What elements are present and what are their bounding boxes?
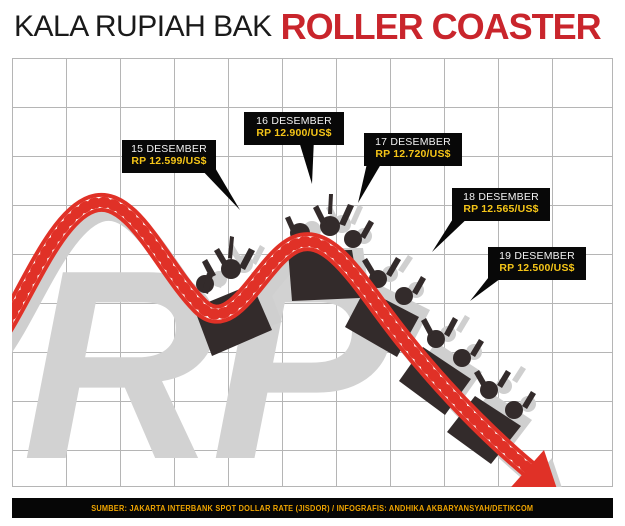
callout-19-desember[interactable]: 19 DESEMBER RP 12.500/US$ xyxy=(488,247,586,280)
title-plain: KALA RUPIAH BAK xyxy=(14,10,272,44)
callout-rate: RP 12.599/US$ xyxy=(130,156,208,168)
chart-plate: RP xyxy=(12,58,613,487)
callout-date: 16 DESEMBER xyxy=(252,116,336,128)
callout-date: 19 DESEMBER xyxy=(496,251,578,263)
callout-17-desember[interactable]: 17 DESEMBER RP 12.720/US$ xyxy=(364,133,462,166)
source-credit-bar: SUMBER: JAKARTA INTERBANK SPOT DOLLAR RA… xyxy=(12,498,613,518)
callout-rate: RP 12.900/US$ xyxy=(252,128,336,140)
title-accent: ROLLER COASTER xyxy=(281,6,601,48)
callout-date: 15 DESEMBER xyxy=(130,144,208,156)
source-credit-text: SUMBER: JAKARTA INTERBANK SPOT DOLLAR RA… xyxy=(91,504,533,513)
callout-15-desember[interactable]: 15 DESEMBER RP 12.599/US$ xyxy=(122,140,216,173)
callout-rate: RP 12.565/US$ xyxy=(460,204,542,216)
callout-date: 17 DESEMBER xyxy=(372,137,454,149)
infographic-root: KALA RUPIAH BAK ROLLER COASTER xyxy=(0,0,625,526)
callout-rate: RP 12.500/US$ xyxy=(496,263,578,275)
callout-16-desember[interactable]: 16 DESEMBER RP 12.900/US$ xyxy=(244,112,344,145)
page-title: KALA RUPIAH BAK ROLLER COASTER xyxy=(0,0,625,54)
callout-18-desember[interactable]: 18 DESEMBER RP 12.565/US$ xyxy=(452,188,550,221)
callout-date: 18 DESEMBER xyxy=(460,192,542,204)
callout-rate: RP 12.720/US$ xyxy=(372,149,454,161)
